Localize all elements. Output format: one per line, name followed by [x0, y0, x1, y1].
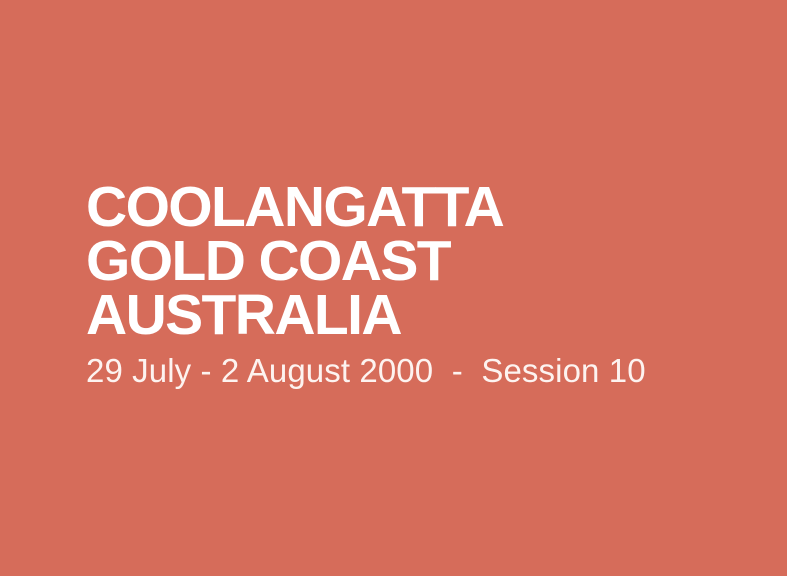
- headline-line-2: GOLD COAST: [86, 234, 746, 288]
- headline-line-1: COOLANGATTA: [86, 180, 746, 234]
- page-title: COOLANGATTA GOLD COAST AUSTRALIA: [86, 180, 746, 342]
- event-subtitle: 29 July - 2 August 2000 - Session 10: [86, 353, 746, 389]
- title-text-block: COOLANGATTA GOLD COAST AUSTRALIA 29 July…: [86, 180, 746, 389]
- title-card: COOLANGATTA GOLD COAST AUSTRALIA 29 July…: [0, 0, 787, 576]
- headline-line-3: AUSTRALIA: [86, 288, 746, 342]
